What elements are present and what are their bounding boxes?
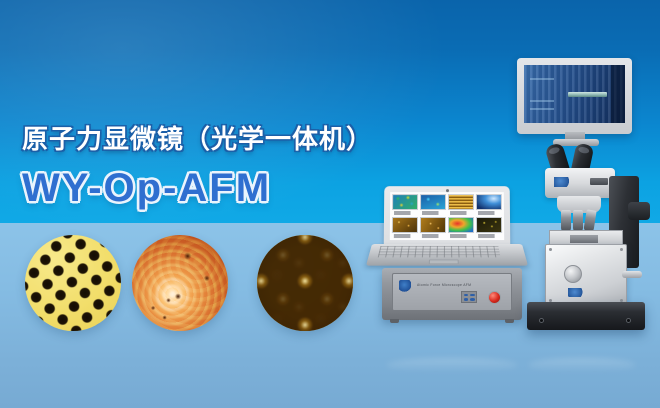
headline-chinese: 原子力显微镜（光学一体机） [22, 124, 373, 154]
scan-thumbnail [392, 194, 418, 215]
scan-thumb-4-image [476, 194, 502, 210]
afm-scanner-head [545, 244, 627, 306]
power-knob[interactable] [488, 291, 501, 304]
led-indicator [470, 298, 475, 301]
scan-thumb-5-image [392, 217, 419, 233]
scan-thumbnail [476, 217, 503, 238]
granite-base [527, 302, 645, 330]
control-laptop [372, 186, 522, 272]
screen-feature-bar [530, 100, 554, 102]
scan-thumbnail [476, 194, 502, 215]
scan-thumb-5-caption [394, 234, 416, 238]
laptop-lid [384, 186, 511, 248]
screw [620, 248, 623, 251]
screen-feature-bar [530, 78, 554, 80]
scan-thumbnail [448, 217, 474, 238]
scan-thumb-3-image [448, 194, 474, 210]
scan-thumbnail [392, 217, 419, 238]
scan-thumb-3-caption [450, 211, 472, 215]
laptop-keyboard-base [366, 244, 528, 266]
scan-thumb-7-image [448, 217, 474, 233]
scan-thumbnail [420, 217, 446, 238]
keyboard-keys [378, 246, 501, 257]
scan-thumb-2-image [420, 194, 446, 210]
scan-thumb-4-caption [478, 211, 500, 215]
microscope-reflection [528, 358, 636, 372]
product-model-name: WY-Op-AFM [22, 165, 271, 211]
scan-thumb-2-caption [422, 211, 444, 215]
scan-thumb-8-caption [478, 234, 500, 238]
laptop-screen [390, 192, 504, 240]
scan-thumb-6-image [420, 217, 446, 233]
scanner-adjust-knob[interactable] [564, 265, 582, 283]
scan-thumb-7-caption [450, 234, 472, 238]
sample-image-terrace-topography [132, 235, 228, 331]
objective-lens [561, 210, 571, 232]
base-mount-hole [626, 318, 631, 323]
indicator-led-grid [461, 291, 477, 303]
sample-2-pits [132, 235, 228, 331]
screen-feature-bar [530, 108, 554, 110]
scan-thumbnail [448, 194, 474, 215]
objective-lens [573, 210, 583, 232]
sample-image-nanoparticle-grains [257, 235, 353, 331]
led-indicator [464, 294, 469, 297]
trackpad [429, 260, 459, 265]
screw [549, 248, 552, 251]
stage-slot [570, 235, 598, 243]
sample-3-vignette [257, 235, 353, 331]
banner-canvas: 原子力显微镜（光学一体机） WY-Op-AFM [0, 0, 660, 408]
sample-1-pore-grid-b [25, 235, 121, 331]
translation-rod [622, 271, 642, 278]
led-indicator [470, 294, 475, 297]
brand-logo-icon [554, 177, 570, 187]
sample-image-nanopore-array [25, 235, 121, 331]
optical-afm-microscope [505, 58, 657, 338]
screen-dark-edge [611, 65, 625, 123]
cantilever-monitor [517, 58, 632, 134]
scan-thumb-8-image [476, 217, 503, 233]
afm-controller-unit: Atomic Force Microscope AFM [382, 268, 522, 320]
scan-thumb-1-image [392, 194, 418, 210]
monitor-screen [524, 65, 625, 123]
microscope-head [545, 168, 615, 198]
led-indicator [464, 298, 469, 301]
scan-thumbnail [420, 194, 446, 215]
controller-label: Atomic Force Microscope AFM [417, 283, 471, 287]
cantilever-probe-image [568, 92, 606, 97]
laptop-reflection [386, 358, 518, 372]
brand-logo-icon [568, 288, 584, 297]
brand-logo-icon [399, 280, 411, 292]
filter-slider [590, 178, 608, 185]
scan-thumb-6-caption [422, 234, 444, 238]
focus-knob[interactable] [628, 202, 650, 220]
base-mount-hole [539, 318, 544, 323]
controller-front-panel: Atomic Force Microscope AFM [392, 273, 512, 311]
controller-foot [390, 319, 399, 323]
scan-thumb-1-caption [394, 211, 416, 215]
